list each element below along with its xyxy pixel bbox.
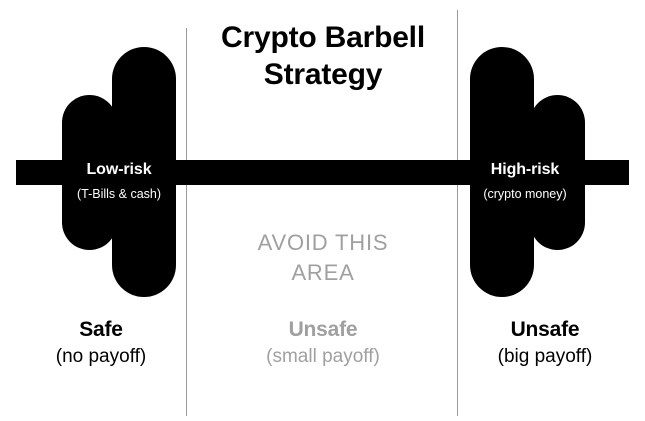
title-line-2: Strategy	[190, 57, 456, 94]
avoid-area-note: AVOID THIS AREA	[190, 228, 456, 287]
weight-label-left-secondary: (T-Bills & cash)	[52, 188, 186, 202]
title-line-1: Crypto Barbell	[190, 20, 456, 57]
divider-line-right	[457, 10, 458, 416]
caption-middle-secondary: (small payoff)	[190, 346, 456, 368]
caption-right: Unsafe (big payoff)	[460, 318, 630, 368]
caption-left: Safe (no payoff)	[16, 318, 186, 368]
caption-middle: Unsafe (small payoff)	[190, 318, 456, 368]
caption-right-secondary: (big payoff)	[460, 346, 630, 368]
avoid-area-note-line-2: AREA	[190, 258, 456, 288]
weight-label-right-primary: High-risk	[455, 161, 595, 179]
page-title: Crypto Barbell Strategy	[190, 20, 456, 93]
caption-left-primary: Safe	[16, 318, 186, 343]
weight-label-left: Low-risk (T-Bills & cash)	[52, 161, 186, 201]
avoid-area-note-line-1: AVOID THIS	[190, 228, 456, 258]
divider-line-left	[186, 28, 187, 416]
weight-label-right: High-risk (crypto money)	[455, 161, 595, 201]
crypto-barbell-strategy-infographic: Crypto Barbell Strategy Low-risk (T-Bill…	[0, 0, 645, 421]
weight-label-left-primary: Low-risk	[52, 161, 186, 179]
caption-right-primary: Unsafe	[460, 318, 630, 343]
caption-middle-primary: Unsafe	[190, 318, 456, 343]
weight-label-right-secondary: (crypto money)	[455, 188, 595, 202]
caption-left-secondary: (no payoff)	[16, 346, 186, 368]
